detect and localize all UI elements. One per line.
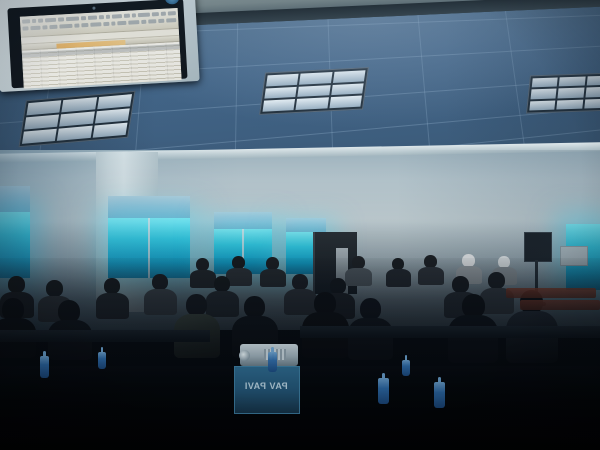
- water-bottle: [402, 360, 410, 376]
- laptop-screen[interactable]: [20, 8, 182, 89]
- crate-label: PAV PAVI: [238, 381, 294, 391]
- projector-lens-icon: [239, 350, 250, 361]
- water-bottle: [268, 352, 277, 372]
- room-photo: PAV PAVI: [0, 0, 600, 450]
- screen-glare: [20, 8, 182, 89]
- laptop[interactable]: [0, 0, 200, 92]
- water-bottle: [40, 356, 49, 378]
- webcam-icon: [92, 7, 95, 10]
- water-bottle: [98, 352, 106, 369]
- room-shadow: [0, 258, 600, 450]
- water-bottle: [378, 378, 389, 404]
- water-bottle: [434, 382, 445, 408]
